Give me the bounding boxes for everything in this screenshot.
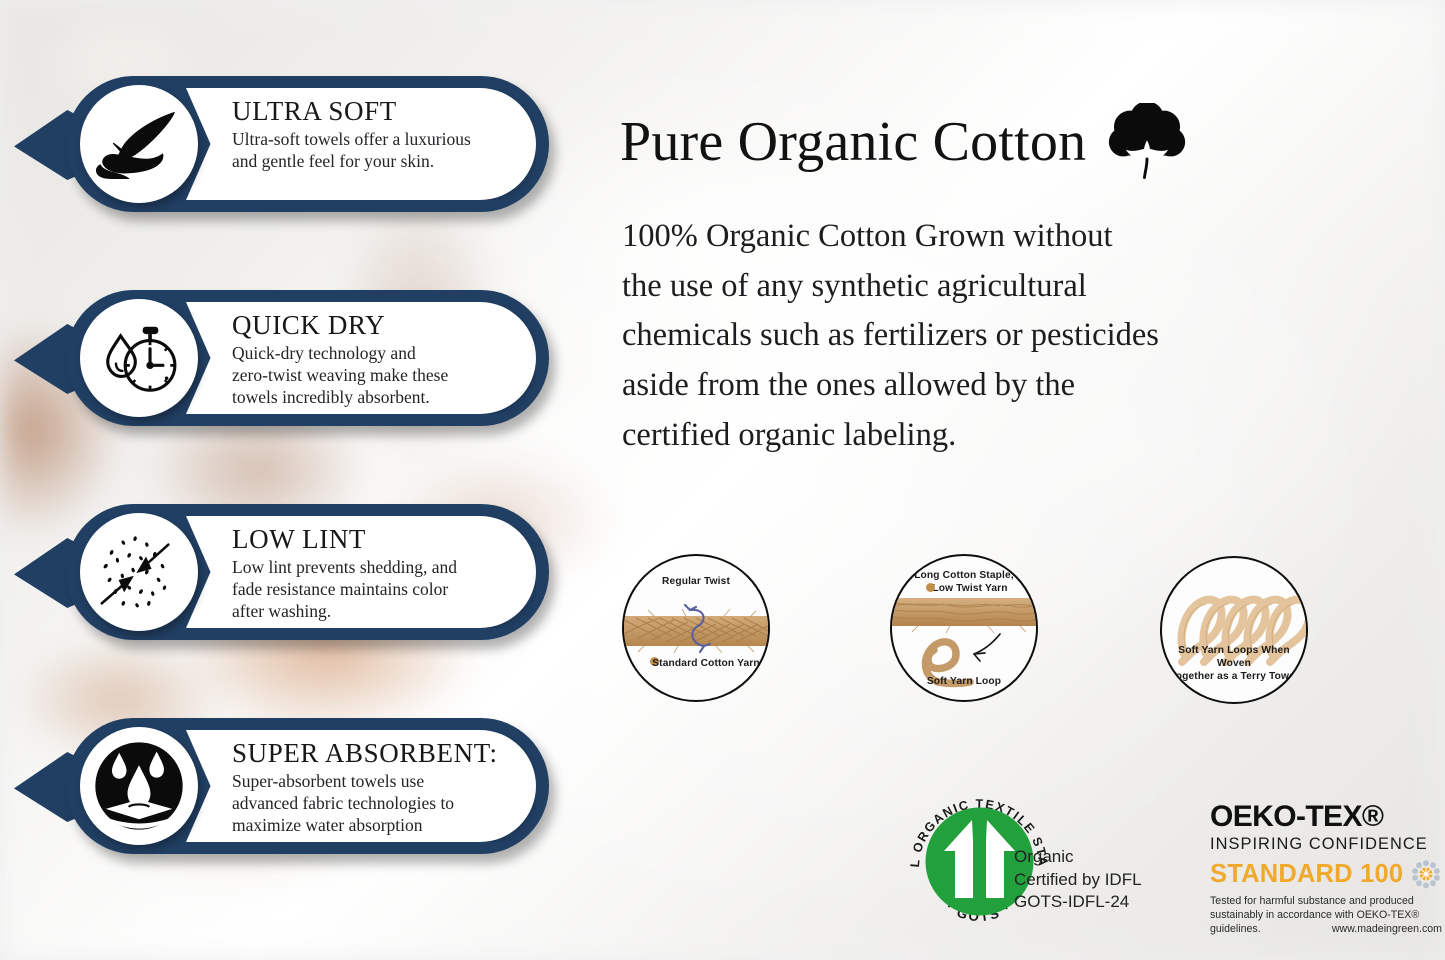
feature-title: LOW LINT [232, 525, 510, 554]
feature-description: Quick-dry technology and zero-twist weav… [232, 342, 510, 409]
body-line: aside from the ones allowed by the [622, 361, 1422, 411]
gots-info-line: Organic [1014, 846, 1142, 869]
feature-desc-line: Quick-dry technology and [232, 342, 510, 364]
oeko-url: www.madeingreen.com [1332, 923, 1442, 937]
feature-card-low-lint: LOW LINT Low lint prevents shedding, and… [14, 498, 574, 646]
feather-on-hand-icon [80, 85, 198, 203]
feature-desc-line: towels incredibly absorbent. [232, 386, 510, 408]
oeko-tex-title: OEKO-TEX® [1210, 802, 1442, 832]
yarn-diagram-low-twist: Long Cotton Staple, Low Twist Yarn [890, 554, 1038, 702]
oeko-tex-subtitle: INSPIRING CONFIDENCE [1210, 836, 1442, 852]
yarn-diagram-regular-twist: Regular Twist [622, 554, 770, 702]
feature-description: Ultra-soft towels offer a luxurious and … [232, 128, 510, 173]
yarn-bottom-label-line1: Soft Yarn Loops When Woven [1162, 645, 1306, 670]
cotton-boll-icon [1104, 103, 1190, 181]
feature-desc-line: and gentle feel for your skin. [232, 150, 510, 172]
gots-info-line: GOTS-IDFL-24 [1014, 891, 1142, 914]
feature-text-plate: LOW LINT Low lint prevents shedding, and… [186, 516, 536, 628]
feature-desc-line: zero-twist weaving make these [232, 364, 510, 386]
oeko-standard-row: STANDARD 100 [1210, 859, 1442, 889]
feature-card-ultra-soft: ULTRA SOFT Ultra-soft towels offer a lux… [14, 70, 574, 218]
feature-text-plate: SUPER ABSORBENT: Super-absorbent towels … [186, 730, 536, 842]
feature-card-super-absorbent: SUPER ABSORBENT: Super-absorbent towels … [14, 712, 574, 860]
feature-desc-line: Super-absorbent towels use [232, 770, 510, 792]
oeko-fine-line: guidelines. [1210, 923, 1261, 937]
yarn-bottom-label: Standard Cotton Yarn [624, 658, 768, 670]
oeko-standard-label: STANDARD 100 [1210, 862, 1403, 888]
stopwatch-droplet-icon [80, 299, 198, 417]
feature-title: ULTRA SOFT [232, 97, 510, 126]
feature-desc-line: advanced fabric technologies to [232, 792, 510, 814]
body-line: certified organic labeling. [622, 411, 1422, 461]
gots-info-line: Certified by IDFL [1014, 869, 1142, 892]
body-line: chemicals such as fertilizers or pestici… [622, 311, 1422, 361]
feature-desc-line: Ultra-soft towels offer a luxurious [232, 128, 510, 150]
feature-text-plate: ULTRA SOFT Ultra-soft towels offer a lux… [186, 88, 536, 200]
oeko-tex-logo: OEKO-TEX® INSPIRING CONFIDENCE STANDARD … [1210, 802, 1442, 937]
page-title: Pure Organic Cotton [620, 114, 1086, 170]
feature-desc-line: fade resistance maintains color [232, 578, 510, 600]
feature-desc-line: Low lint prevents shedding, and [232, 556, 510, 578]
oeko-fine-print: Tested for harmful substance and produce… [1210, 895, 1442, 937]
feature-desc-line: after washing. [232, 600, 510, 622]
feature-description: Low lint prevents shedding, and fade res… [232, 556, 510, 623]
oeko-fine-line: sustainably in accordance with OEKO-TEX® [1210, 909, 1442, 923]
certifications-row: GLOBAL ORGANIC TEXTILE STANDARD · GOTS ·… [612, 780, 1445, 960]
right-column: Pure Organic Cotton 100% Organic Cotton … [612, 0, 1445, 960]
gots-certification-info: Organic Certified by IDFL GOTS-IDFL-24 [1014, 846, 1142, 914]
feature-description: Super-absorbent towels use advanced fabr… [232, 770, 510, 837]
feature-title: SUPER ABSORBENT: [232, 739, 510, 768]
yarn-bottom-label: Soft Yarn Loop [892, 676, 1036, 688]
water-drops-fabric-icon [80, 727, 198, 845]
oeko-fine-line: Tested for harmful substance and produce… [1210, 895, 1442, 909]
feature-list: ULTRA SOFT Ultra-soft towels offer a lux… [14, 70, 574, 860]
body-line: 100% Organic Cotton Grown without [622, 212, 1422, 262]
feature-card-quick-dry: QUICK DRY Quick-dry technology and zero-… [14, 284, 574, 432]
body-line: the use of any synthetic agricultural [622, 262, 1422, 312]
body-copy: 100% Organic Cotton Grown without the us… [622, 212, 1422, 461]
feature-title: QUICK DRY [232, 311, 510, 340]
yarn-diagram-row: Regular Twist [612, 552, 1445, 712]
lint-particles-icon [80, 513, 198, 631]
yarn-diagram-terry-loops: Soft Yarn Loops When Woven Together as a… [1160, 556, 1308, 704]
feature-text-plate: QUICK DRY Quick-dry technology and zero-… [186, 302, 536, 414]
headline-row: Pure Organic Cotton [620, 103, 1190, 181]
made-in-green-flower-icon [1411, 859, 1441, 889]
yarn-bottom-label-line2: Together as a Terry Towel [1162, 671, 1306, 683]
feature-desc-line: maximize water absorption [232, 814, 510, 836]
